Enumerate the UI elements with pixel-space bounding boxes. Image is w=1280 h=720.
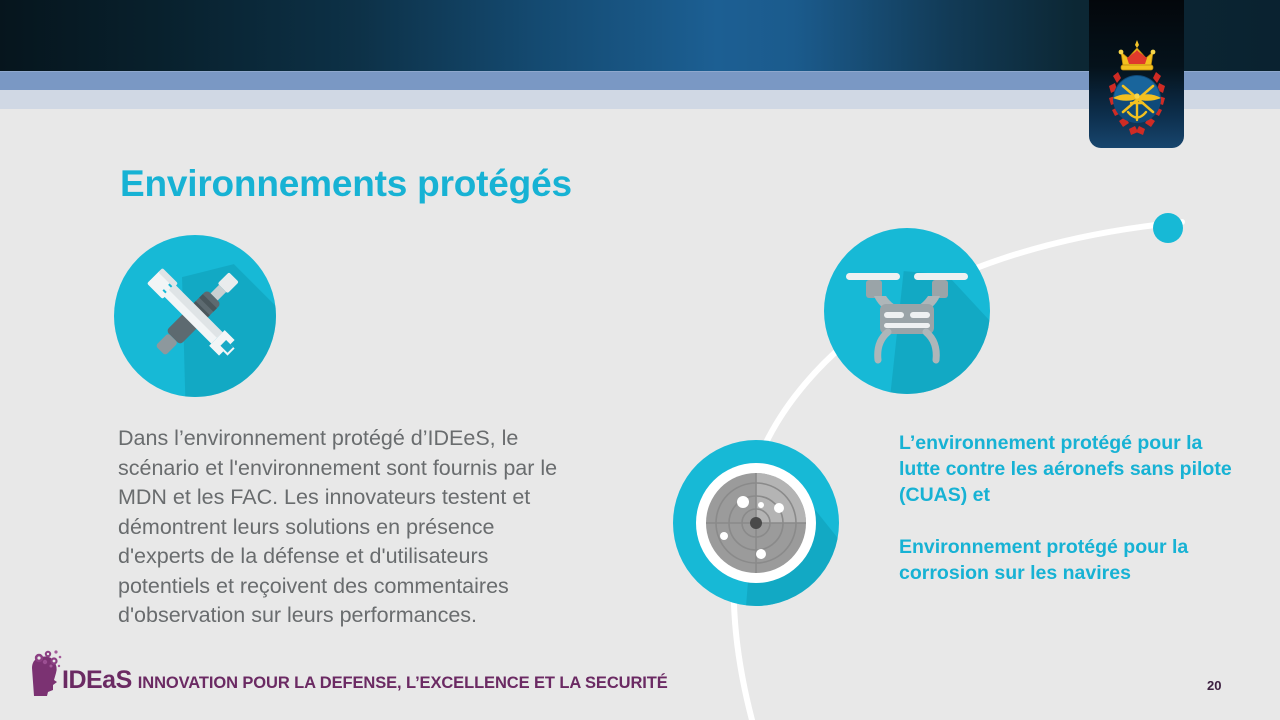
footer-brand-name: IDEaS: [62, 666, 132, 694]
radar-screen-icon: [673, 440, 839, 606]
accent-dot: [1153, 213, 1183, 243]
body-paragraph: Dans l’environnement protégé d’IDEeS, le…: [118, 424, 578, 631]
tools-icon: [114, 235, 276, 397]
highlight-text-block: L’environnement protégé pour la lutte co…: [899, 430, 1239, 586]
page-title: Environnements protégés: [120, 163, 572, 205]
wrench-screwdriver-icon: [114, 235, 276, 397]
header-light-band: [0, 90, 1280, 109]
highlight-cuas: L’environnement protégé pour la lutte co…: [899, 430, 1239, 508]
header-blue-band: [0, 71, 1280, 90]
slide-canvas: Environnements protégés: [0, 0, 1280, 720]
page-number: 20: [1207, 678, 1221, 693]
canadian-armed-forces-badge-icon: [1097, 36, 1177, 140]
header-dark-band: [0, 0, 1280, 71]
footer-tagline: INNOVATION POUR LA DEFENSE, L’EXCELLENCE…: [138, 674, 668, 692]
radar-icon: [673, 440, 839, 606]
caf-badge-panel: [1089, 0, 1184, 148]
drone-icon: [824, 228, 990, 394]
footer-brand: IDEaSINNOVATION POUR LA DEFENSE, L’EXCEL…: [62, 666, 668, 695]
highlight-corrosion: Environnement protégé pour la corrosion …: [899, 534, 1239, 586]
quadcopter-drone-icon: [824, 228, 990, 394]
